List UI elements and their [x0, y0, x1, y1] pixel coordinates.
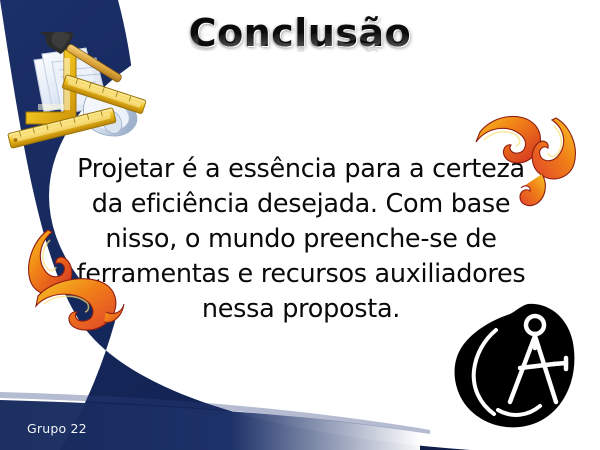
- body-line: nisso, o mundo preenche-se de: [56, 222, 546, 257]
- drafting-tools-icon: [4, 32, 146, 150]
- flame-swirl-icon: [468, 112, 580, 210]
- body-line: ferramentas e recursos auxiliadores: [56, 257, 546, 292]
- presentation-slide: Conclusão Conclusão Projetar é a essênci…: [0, 0, 600, 450]
- slide-footer: Grupo 22: [27, 421, 87, 436]
- compass-divider-icon: [432, 292, 592, 442]
- flame-swirl-icon: [22, 228, 128, 336]
